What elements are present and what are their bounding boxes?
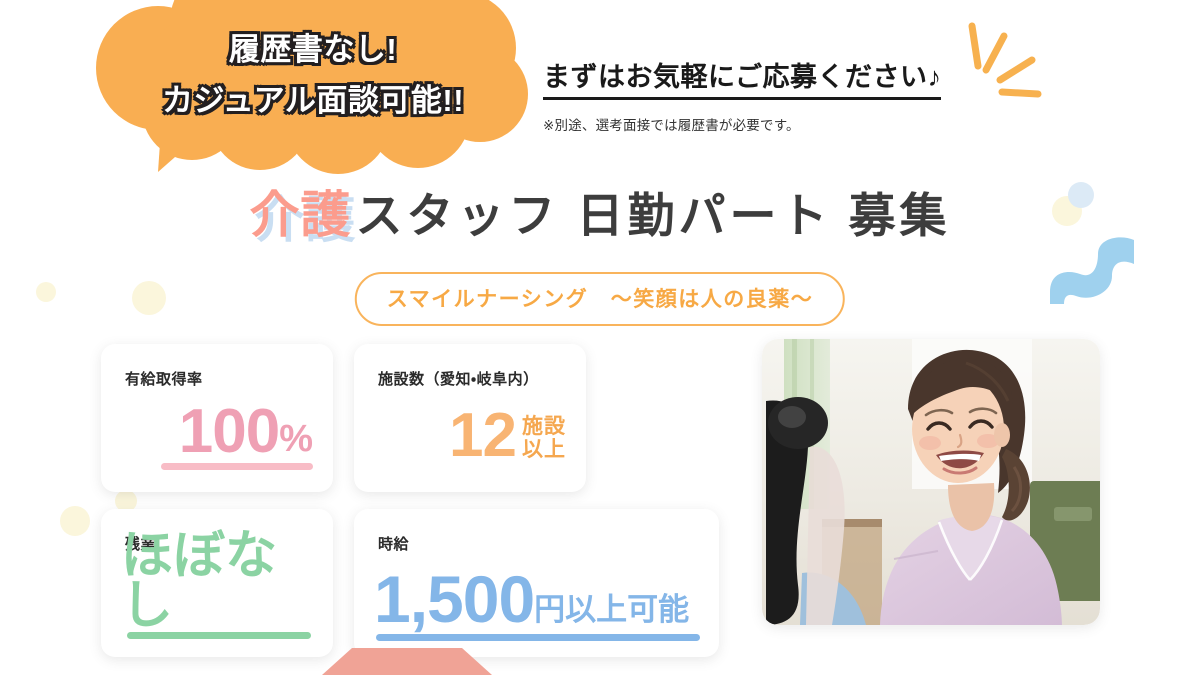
cloud-bubble-text: 履歴書なし! カジュアル面談可能!! — [88, 12, 538, 132]
stat-suffix-line-1: 施設 — [522, 415, 566, 439]
stat-number: ほぼなし — [121, 532, 317, 631]
stat-suffix-stack: 施設 以上 — [516, 415, 566, 466]
stat-card-overtime: 残業 ほぼなし — [101, 509, 333, 657]
staff-photo — [762, 339, 1100, 625]
sparkle-icon — [960, 18, 1050, 118]
stat-card-paid-leave: 有給取得率 100 % — [101, 344, 333, 492]
title-accent: 介護 — [249, 190, 351, 240]
title-main: スタッフ 日勤パート 募集 — [355, 192, 950, 239]
stat-card-facilities: 施設数（愛知・岐阜内） 12 施設 以上 — [354, 344, 586, 492]
pink-trapezoid-decor — [322, 648, 492, 675]
stat-card-hourly-wage: 時給 1,500 円以上可能 — [354, 509, 719, 657]
decor-dot-yellow-1 — [132, 281, 166, 315]
stat-value-group: 1,500 円以上可能 — [374, 568, 689, 631]
stat-underline — [376, 634, 700, 641]
apply-note: ※別途、選考面接では履歴書が必要です。 — [543, 114, 1003, 134]
company-slogan-badge: スマイルナーシング 〜笑顔は人の良薬〜 — [355, 272, 845, 326]
stat-value-group: 12 施設 以上 — [386, 407, 566, 466]
stat-underline — [161, 463, 313, 470]
stat-number: 100 — [179, 403, 279, 462]
cloud-line-1: 履歴書なし! — [229, 24, 397, 69]
stat-suffix-line-2: 以上 — [522, 438, 566, 462]
stat-value-group: 100 % — [141, 403, 313, 462]
stat-label: 施設数（愛知・岐阜内） — [378, 368, 539, 389]
stat-label: 時給 — [378, 533, 409, 554]
stat-suffix: 円以上可能 — [534, 594, 689, 631]
stat-suffix: % — [279, 420, 313, 462]
page-title: 介護 スタッフ 日勤パート 募集 — [0, 190, 1200, 240]
decor-dot-yellow-2 — [60, 506, 90, 536]
cloud-line-2: カジュアル面談可能!! — [162, 75, 464, 120]
decor-dot-yellow-5 — [36, 282, 56, 302]
apply-block: まずはお気軽にご応募ください♪ ※別途、選考面接では履歴書が必要です。 — [543, 62, 1003, 134]
stat-number: 1,500 — [374, 568, 534, 631]
stat-label: 有給取得率 — [125, 368, 203, 389]
recruitment-banner: 履歴書なし! カジュアル面談可能!! まずはお気軽にご応募ください♪ ※別途、選… — [0, 0, 1200, 675]
apply-headline: まずはお気軽にご応募ください♪ — [543, 62, 941, 100]
stat-number: 12 — [449, 407, 516, 466]
stat-underline — [127, 632, 311, 639]
squiggle-icon — [1046, 230, 1158, 304]
stat-value-group: ほぼなし — [121, 532, 317, 631]
